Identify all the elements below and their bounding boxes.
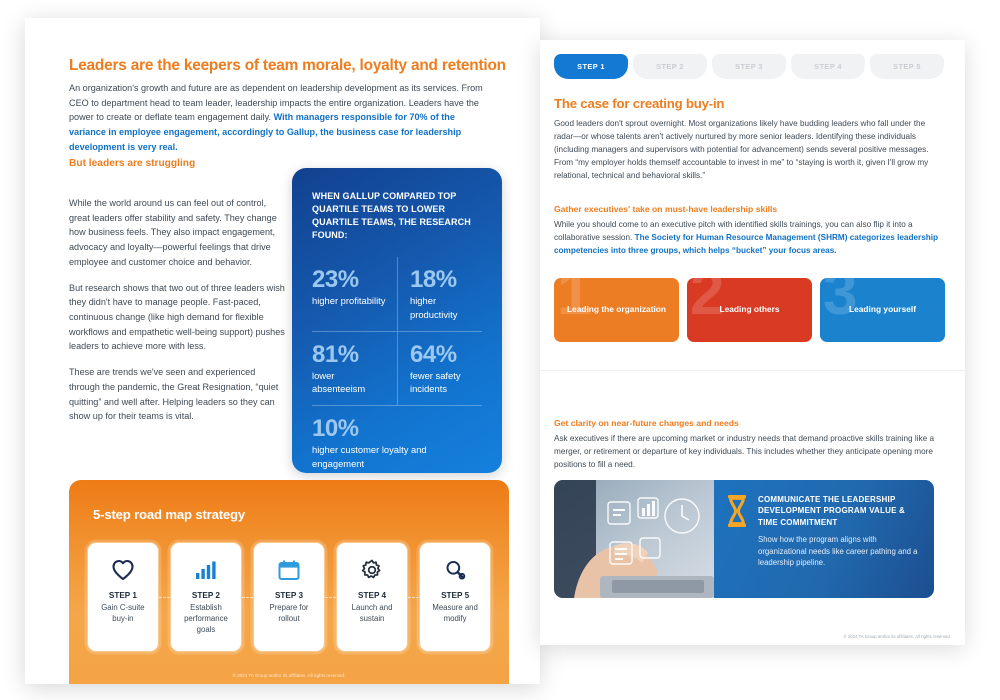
roadmap-step-2[interactable]: STEP 2 Establish performance goals bbox=[170, 542, 242, 652]
roadmap-step-3[interactable]: STEP 3 Prepare for rollout bbox=[253, 542, 325, 652]
right-document-panel: STEP 1 STEP 2 STEP 3 STEP 4 STEP 5 The c… bbox=[540, 40, 965, 645]
step-description: Establish performance goals bbox=[176, 602, 236, 635]
step-description: Measure and modify bbox=[425, 602, 485, 624]
bucket-card-1[interactable]: 1 Leading the organization bbox=[554, 278, 679, 342]
stat-value: 64% bbox=[410, 342, 474, 367]
screenshot-root: Leaders are the keepers of team morale, … bbox=[0, 0, 1000, 700]
promo-callout-card: COMMUNICATE THE LEADERSHIP DEVELOPMENT P… bbox=[554, 480, 934, 598]
roadmap-step-1[interactable]: STEP 1 Gain C-suite buy-in bbox=[87, 542, 159, 652]
tab-step-4[interactable]: STEP 4 bbox=[791, 54, 865, 79]
stat-item: 23% higher profitability bbox=[312, 257, 397, 331]
stat-item: 81% lower absenteeism bbox=[312, 331, 397, 406]
stat-label: higher customer loyalty and engagement bbox=[312, 443, 474, 469]
body-paragraph: These are trends we've seen and experien… bbox=[69, 365, 287, 424]
stat-value: 10% bbox=[312, 416, 474, 441]
roadmap-step-4[interactable]: STEP 4 Launch and sustain bbox=[336, 542, 408, 652]
tab-step-2[interactable]: STEP 2 bbox=[633, 54, 707, 79]
step-connector bbox=[408, 597, 419, 598]
bucket-number: 3 bbox=[823, 278, 855, 325]
left-document-page: Leaders are the keepers of team morale, … bbox=[25, 18, 540, 684]
step-name: STEP 4 bbox=[358, 591, 386, 600]
stat-label: higher productivity bbox=[410, 294, 474, 320]
step-connector bbox=[242, 597, 253, 598]
step-description: Gain C-suite buy-in bbox=[93, 602, 153, 624]
step-connector bbox=[159, 597, 170, 598]
bucket-number: 1 bbox=[557, 278, 589, 325]
left-page-footer: © 2024 TA Group and/or its affiliates. A… bbox=[69, 673, 509, 678]
step-name: STEP 3 bbox=[275, 591, 303, 600]
step-name: STEP 5 bbox=[441, 591, 469, 600]
competency-buckets: 1 Leading the organization 2 Leading oth… bbox=[554, 278, 945, 342]
tab-step-3[interactable]: STEP 3 bbox=[712, 54, 786, 79]
stat-item: 18% higher productivity bbox=[397, 257, 482, 331]
stat-label: lower absenteeism bbox=[312, 369, 389, 395]
stat-value: 18% bbox=[410, 267, 474, 292]
stat-item: 10% higher customer loyalty and engageme… bbox=[312, 405, 482, 480]
stat-label: higher profitability bbox=[312, 294, 389, 307]
bucket-card-2[interactable]: 2 Leading others bbox=[687, 278, 812, 342]
gear-icon bbox=[360, 555, 384, 585]
step-connector bbox=[325, 597, 336, 598]
stats-card-title: WHEN GALLUP COMPARED TOP QUARTILE TEAMS … bbox=[312, 190, 482, 242]
bucket-label: Leading yourself bbox=[849, 304, 916, 316]
stat-item: 64% fewer safety incidents bbox=[397, 331, 482, 406]
step-description: Prepare for rollout bbox=[259, 602, 319, 624]
body-paragraph: But research shows that two out of three… bbox=[69, 281, 287, 355]
promo-subtext: Show how the program aligns with organiz… bbox=[758, 534, 920, 569]
hourglass-icon bbox=[726, 494, 748, 588]
section-divider bbox=[540, 370, 965, 371]
bar-chart-icon bbox=[194, 555, 218, 585]
stat-value: 23% bbox=[312, 267, 389, 292]
right-panel-body: Good leaders don't sprout overnight. Mos… bbox=[554, 118, 946, 183]
step-name: STEP 2 bbox=[192, 591, 220, 600]
section-subheading: But leaders are struggling bbox=[69, 158, 195, 169]
step-name: STEP 1 bbox=[109, 591, 137, 600]
promo-photo bbox=[554, 480, 714, 598]
bucket-card-3[interactable]: 3 Leading yourself bbox=[820, 278, 945, 342]
promo-heading: COMMUNICATE THE LEADERSHIP DEVELOPMENT P… bbox=[758, 494, 920, 528]
intro-paragraph: An organization's growth and future are … bbox=[69, 81, 489, 155]
roadmap-panel: 5-step road map strategy STEP 1 Gain C-s… bbox=[69, 480, 509, 684]
right-panel-subheading-2: Gather executives' take on must-have lea… bbox=[554, 204, 777, 214]
gallup-stats-card: WHEN GALLUP COMPARED TOP QUARTILE TEAMS … bbox=[292, 168, 502, 473]
magnifier-icon bbox=[443, 555, 467, 585]
promo-text-block: COMMUNICATE THE LEADERSHIP DEVELOPMENT P… bbox=[714, 480, 934, 598]
roadmap-steps-row: STEP 1 Gain C-suite buy-in bbox=[87, 542, 491, 652]
left-body-column: While the world around us can feel out o… bbox=[69, 196, 287, 435]
stat-label: fewer safety incidents bbox=[410, 369, 474, 395]
roadmap-title: 5-step road map strategy bbox=[93, 507, 245, 522]
stat-value: 81% bbox=[312, 342, 389, 367]
tab-step-5[interactable]: STEP 5 bbox=[870, 54, 944, 79]
bucket-label: Leading others bbox=[719, 304, 779, 316]
calendar-icon bbox=[277, 555, 301, 585]
right-panel-subheading-3: Get clarity on near-future changes and n… bbox=[554, 418, 739, 428]
body-paragraph: While the world around us can feel out o… bbox=[69, 196, 287, 270]
step-description: Launch and sustain bbox=[342, 602, 402, 624]
right-panel-body-2: While you should come to an executive pi… bbox=[554, 219, 946, 258]
tab-step-1[interactable]: STEP 1 bbox=[554, 54, 628, 79]
left-page-content: Leaders are the keepers of team morale, … bbox=[25, 18, 540, 684]
right-panel-title: The case for creating buy-in bbox=[554, 96, 724, 111]
bucket-label: Leading the organization bbox=[567, 304, 666, 316]
step-tabs: STEP 1 STEP 2 STEP 3 STEP 4 STEP 5 bbox=[554, 54, 944, 79]
right-panel-footer: © 2024 TA Group and/or its affiliates. A… bbox=[844, 634, 951, 639]
right-panel-body-3: Ask executives if there are upcoming mar… bbox=[554, 433, 946, 472]
stats-grid: 23% higher profitability 18% higher prod… bbox=[312, 257, 482, 480]
heart-icon bbox=[111, 555, 135, 585]
bucket-number: 2 bbox=[690, 278, 722, 325]
roadmap-step-5[interactable]: STEP 5 Measure and modify bbox=[419, 542, 491, 652]
page-title: Leaders are the keepers of team morale, … bbox=[69, 56, 509, 75]
